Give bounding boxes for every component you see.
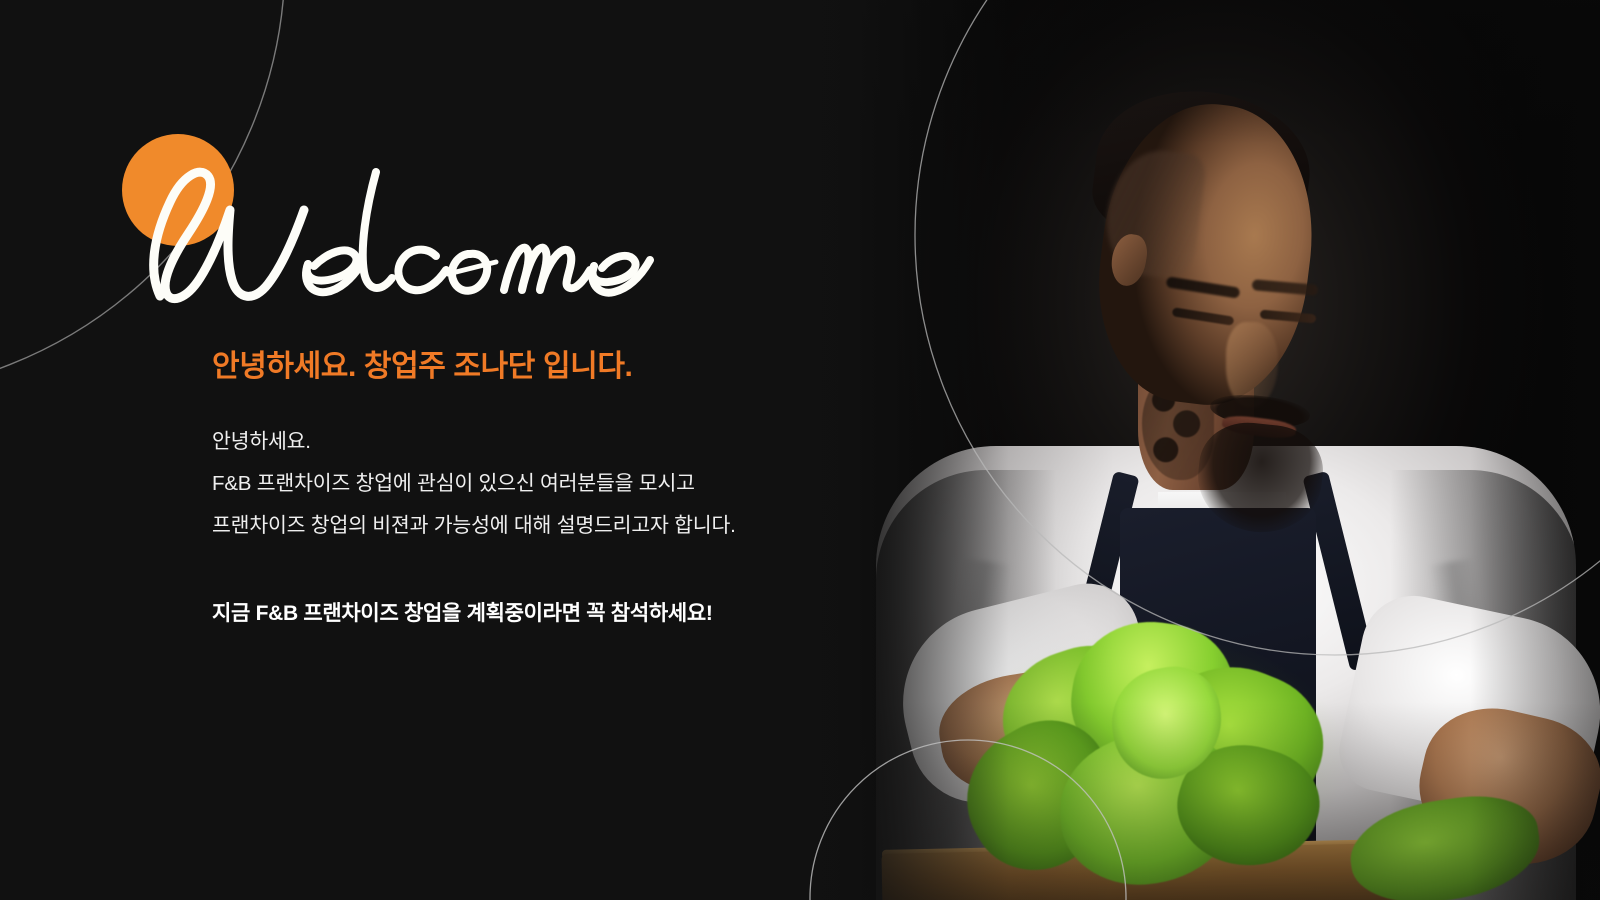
welcome-script-wordmark: Welcome (118, 128, 658, 328)
intro-paragraph: 안녕하세요. F&B 프랜차이즈 창업에 관심이 있으신 여러분들을 모시고 프… (212, 421, 736, 547)
intro-line-1: 안녕하세요. (212, 421, 736, 463)
chef-figure (790, 0, 1600, 900)
lettuce-bunch (940, 616, 1370, 896)
hero-content: Welcome (0, 0, 900, 900)
intro-line-2: F&B 프랜차이즈 창업에 관심이 있으신 여러분들을 모시고 (212, 463, 736, 505)
intro-line-3: 프랜차이즈 창업의 비젼과 가능성에 대해 설명드리고자 합니다. (212, 505, 736, 547)
welcome-lockup: Welcome (118, 128, 658, 328)
hero-banner: Welcome (0, 0, 1600, 900)
page-title: 안녕하세요. 창업주 조나단 입니다. (212, 341, 632, 385)
cta-message: 지금 F&B 프랜차이즈 창업을 계획중이라면 꼭 참석하세요! (212, 599, 713, 629)
